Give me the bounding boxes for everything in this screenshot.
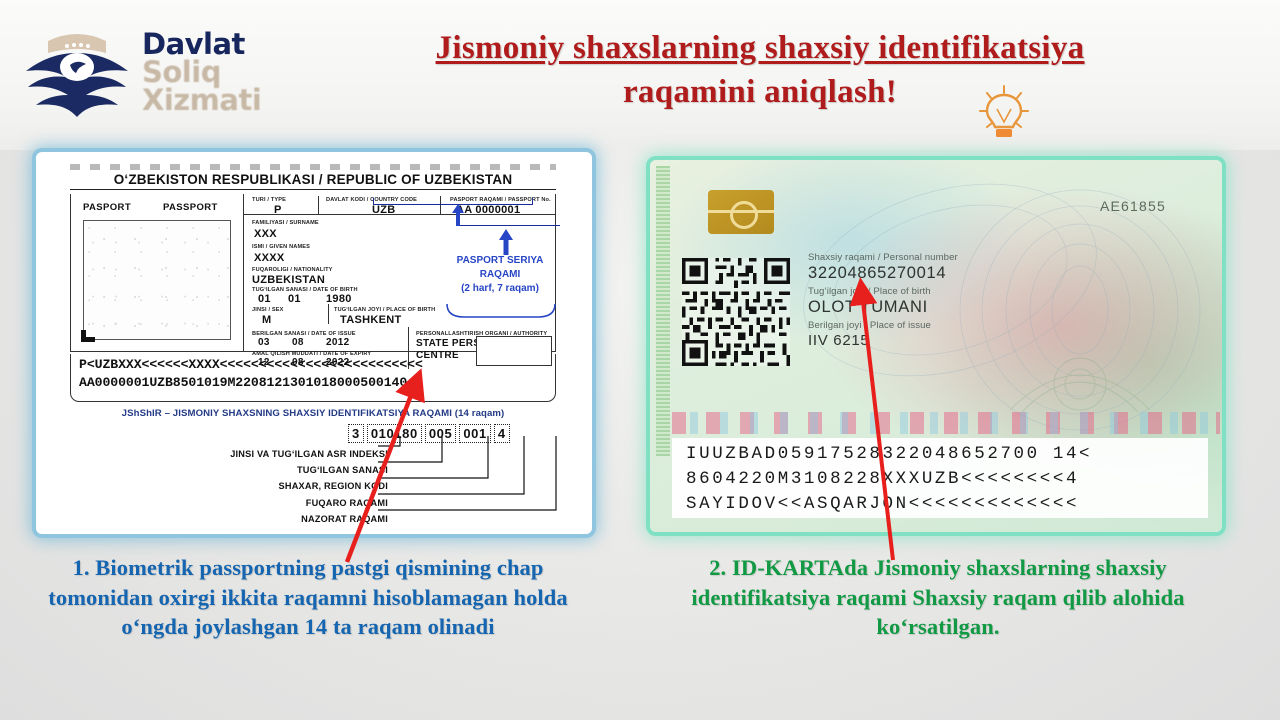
- label-sex: JINSI / SEX: [252, 307, 284, 313]
- value-type: P: [274, 204, 282, 216]
- passport-no-underline: [456, 225, 560, 226]
- jshshir-caption: JShShIR – JISMONIY SHAXSNING SHAXSIY IDE…: [70, 408, 556, 419]
- passport-mrz-box: P<UZBXXX<<<<<<XXXX<<<<<<<<<<<<<<<<<<<<<<…: [70, 354, 556, 402]
- legend-row: JINSI VA TUG‘ILGAN ASR INDEKSI: [108, 446, 388, 462]
- passport-photo-column: PASPORT PASSPORT: [71, 194, 243, 351]
- passport-data-area: PASPORT PASSPORT TURI / TYPE P DAVLAT KO…: [70, 194, 556, 352]
- qr-code-icon: [682, 258, 790, 366]
- id-card-security-stripe: [656, 166, 670, 456]
- passport-photo-placeholder: [83, 220, 231, 340]
- id-mrz-line-2: 8604220M3108228XXXUZB<<<<<<<<4: [686, 469, 1079, 489]
- value-surname: XXX: [254, 228, 277, 240]
- passport-fields-column: TURI / TYPE P DAVLAT KODI / COUNTRY CODE…: [243, 194, 555, 351]
- label-place-of-issue: Berilgan joyi / Place of issue: [808, 320, 1068, 331]
- page-title-line-1: Jismoniy shaxslarning shaxsiy identifika…: [330, 26, 1190, 70]
- id-card-serial-number: AE61855: [1100, 198, 1166, 214]
- value-pob: TASHKENT: [340, 314, 401, 326]
- serial-note-line-1: PASPORT SERIYA: [430, 254, 570, 269]
- value-place-of-issue: IIV 6215: [808, 332, 1068, 349]
- value-issue-year: 2012: [326, 337, 349, 348]
- passport-country-title: O‘ZBEKISTON RESPUBLIKASI / REPUBLIC OF U…: [70, 172, 556, 190]
- brace-icon: [444, 304, 558, 327]
- value-sex: M: [262, 314, 271, 326]
- id-mrz-line-1: IUUZBAD05917528322048652700 14<: [686, 444, 1092, 464]
- legend-row: NAZORAT RAQAMI: [108, 511, 388, 527]
- lightbulb-icon: [975, 82, 1033, 144]
- passport-mrz-line-2: AA0000001UZB8501019M22081213010180005001…: [79, 375, 415, 390]
- legend-row: TUG‘ILGAN SANASI: [108, 462, 388, 478]
- label-type: TURI / TYPE: [252, 197, 286, 203]
- legend-row: FUQARO RAQAMI: [108, 495, 388, 511]
- photo-corner-mark-icon: [81, 330, 95, 342]
- idcard-image-panel: AE61855 Shaxsiy raqami / Personal number…: [650, 160, 1222, 532]
- label-place-of-birth: Tug‘ilgan joyi / Place of birth: [808, 286, 1068, 297]
- label-pob: TUG‘ILGAN JOYI / PLACE OF BIRTH: [334, 307, 435, 313]
- id-mrz-line-3: SAYIDOV<<ASQARJON<<<<<<<<<<<<<: [686, 494, 1079, 514]
- divider: [328, 304, 329, 324]
- passport-word-en: PASSPORT: [163, 202, 218, 213]
- page-title-line-2: raqamini aniqlash!: [330, 70, 1190, 114]
- value-dob-year: 1980: [326, 293, 352, 305]
- id-card-rosette-band-overlay: [672, 412, 1220, 434]
- digit-chunk: 3: [348, 424, 364, 443]
- serial-note-line-3: (2 harf, 7 raqam): [430, 282, 570, 297]
- id-card-mrz-panel: IUUZBAD05917528322048652700 14< 8604220M…: [672, 438, 1208, 518]
- passport-word-uz: PASPORT: [83, 202, 131, 213]
- jshshir-legend: JINSI VA TUG‘ILGAN ASR INDEKSI TUG‘ILGAN…: [108, 446, 388, 527]
- passport-mrz-line-1: P<UZBXXX<<<<<<XXXX<<<<<<<<<<<<<<<<<<<<<<…: [79, 357, 423, 372]
- value-dob-month: 01: [288, 293, 301, 305]
- passport-document: O‘ZBEKISTON RESPUBLIKASI / REPUBLIC OF U…: [48, 162, 580, 524]
- slide-root: Davlat Soliq Xizmati Jismoniy shaxslarni…: [0, 0, 1280, 720]
- id-card-fields: Shaxsiy raqami / Personal number 3220486…: [808, 252, 1068, 352]
- header-bar: Davlat Soliq Xizmati Jismoniy shaxslarni…: [0, 0, 1280, 150]
- value-given-names: XXXX: [254, 252, 285, 264]
- serial-note-line-2: RAQAMI: [430, 268, 570, 283]
- id-card-document: AE61855 Shaxsiy raqami / Personal number…: [650, 160, 1222, 532]
- label-surname: FAMILIYASI / SURNAME: [252, 220, 319, 226]
- brand-line-3: Xizmati: [142, 87, 261, 115]
- label-personal-number: Shaxsiy raqami / Personal number: [808, 252, 1068, 263]
- value-personal-number: 32204865270014: [808, 264, 1068, 283]
- value-place-of-birth: OLOT TUMANI: [808, 298, 1068, 317]
- value-country: UZB: [372, 204, 396, 216]
- blue-arrow-up-icon: [451, 204, 465, 231]
- caption-passport-method: 1. Biometrik passportning pastgi qismini…: [28, 553, 588, 642]
- legend-leader-lines: [378, 436, 568, 528]
- value-issue-day: 03: [258, 337, 270, 348]
- legend-row: SHAXAR, REGION KODI: [108, 478, 388, 494]
- passport-image-panel: O‘ZBEKISTON RESPUBLIKASI / REPUBLIC OF U…: [36, 152, 592, 534]
- label-given-names: ISMI / GIVEN NAMES: [252, 244, 310, 250]
- value-issue-month: 08: [292, 337, 304, 348]
- value-passport-no: AA 0000001: [456, 204, 520, 216]
- smartcard-chip-icon: [708, 190, 774, 234]
- caption-idcard-method: 2. ID-KARTAda Jismoniy shaxslarning shax…: [648, 553, 1228, 642]
- value-dob-day: 01: [258, 293, 271, 305]
- brand-logo-block: Davlat Soliq Xizmati: [18, 14, 318, 132]
- divider: [318, 196, 319, 214]
- page-title: Jismoniy shaxslarning shaxsiy identifika…: [330, 26, 1190, 114]
- value-nationality: UZBEKISTAN: [252, 274, 325, 286]
- passport-perforation: [70, 164, 556, 170]
- label-nationality: FUQAROLIGI / NATIONALITY: [252, 267, 333, 273]
- eagle-emblem-icon: [18, 23, 136, 123]
